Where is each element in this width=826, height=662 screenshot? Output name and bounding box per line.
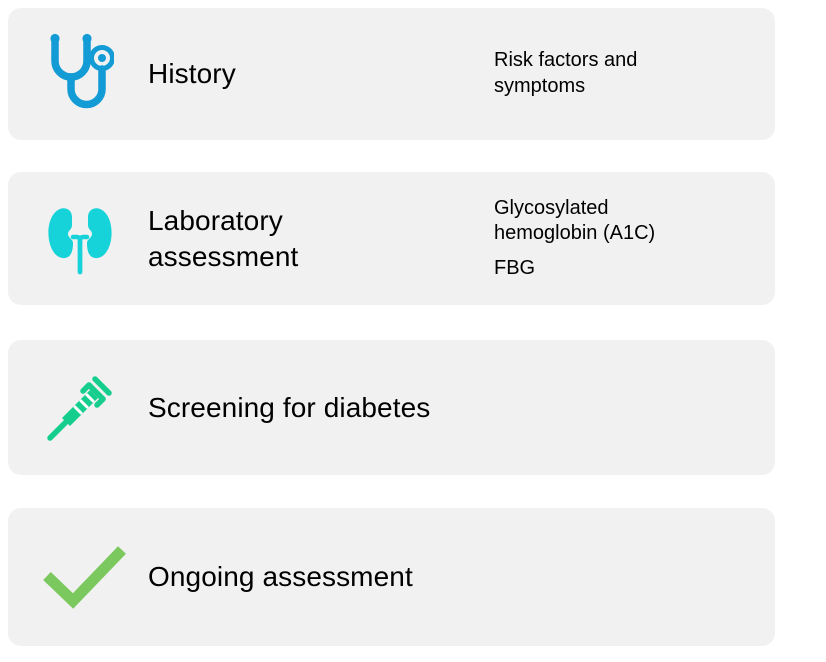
kidneys-icon <box>42 201 118 277</box>
checkmark-icon <box>42 544 130 610</box>
card-ongoing-assessment[interactable]: Ongoing assessment <box>8 508 775 646</box>
card-laboratory-detail-1-line-1: Glycosylated <box>494 196 757 222</box>
card-ongoing-label: Ongoing assessment <box>148 559 488 595</box>
card-laboratory-details: Glycosylated hemoglobin (A1C) FBG <box>488 196 757 282</box>
card-ongoing-label-line-1: Ongoing assessment <box>148 559 488 595</box>
card-laboratory-detail-2: FBG <box>494 256 757 282</box>
card-laboratory-icon-slot <box>42 201 148 277</box>
card-screening-label-line-1: Screening for diabetes <box>148 390 488 426</box>
card-laboratory-assessment[interactable]: Laboratory assessment Glycosylated hemog… <box>8 172 775 305</box>
stethoscope-icon <box>42 31 114 117</box>
card-laboratory-label-line-1: Laboratory <box>148 203 488 239</box>
card-history-detail-1-line-2: symptoms <box>494 74 757 100</box>
card-screening-for-diabetes[interactable]: Screening for diabetes <box>8 340 775 475</box>
card-laboratory-label: Laboratory assessment <box>148 203 488 275</box>
card-history-details: Risk factors and symptoms <box>488 48 757 99</box>
card-ongoing-icon-slot <box>42 544 148 610</box>
card-screening-label: Screening for diabetes <box>148 390 488 426</box>
card-laboratory-detail-1: Glycosylated hemoglobin (A1C) <box>494 196 757 247</box>
syringe-icon <box>42 370 118 446</box>
card-history-icon-slot <box>42 31 148 117</box>
assessment-steps-board: History Risk factors and symptoms Labora… <box>0 0 826 662</box>
card-laboratory-detail-2-line-1: FBG <box>494 256 757 282</box>
card-history-label: History <box>148 56 488 92</box>
card-laboratory-detail-1-line-2: hemoglobin (A1C) <box>494 221 757 247</box>
card-screening-icon-slot <box>42 370 148 446</box>
card-history-detail-1: Risk factors and symptoms <box>494 48 757 99</box>
card-history-detail-1-line-1: Risk factors and <box>494 48 757 74</box>
card-history[interactable]: History Risk factors and symptoms <box>8 8 775 140</box>
card-history-label-line-1: History <box>148 56 488 92</box>
card-laboratory-label-line-2: assessment <box>148 239 488 275</box>
